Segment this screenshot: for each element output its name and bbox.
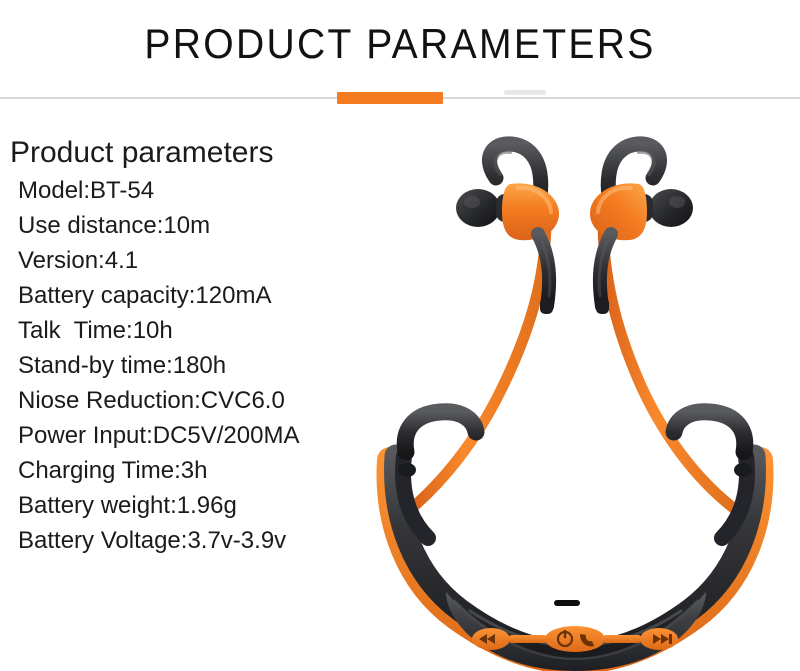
spec-row-standby-time: Stand-by time:180h <box>0 348 340 383</box>
product-image <box>350 130 800 671</box>
left-earbud <box>456 144 559 306</box>
spec-row-version: Version:4.1 <box>0 243 340 278</box>
button-strip-connector-right <box>602 635 642 643</box>
product-parameters-page: PRODUCT PARAMETERS Product parameters Mo… <box>0 0 800 671</box>
spec-row-battery-capacity: Battery capacity:120mA <box>0 278 340 313</box>
spec-row-battery-voltage: Battery Voltage:3.7v-3.9v <box>0 523 340 558</box>
spec-row-noise-reduction: Niose Reduction:CVC6.0 <box>0 383 340 418</box>
silicone-ear-tip-right <box>649 189 693 227</box>
silicone-ear-tip-left <box>456 189 500 227</box>
page-title: PRODUCT PARAMETERS <box>28 18 772 70</box>
control-module <box>446 592 706 671</box>
cable-retainer-left <box>398 463 416 477</box>
charging-port <box>554 600 580 606</box>
orange-cable-left <box>412 220 546 508</box>
right-earbud <box>590 144 693 306</box>
specifications-heading: Product parameters <box>0 133 340 173</box>
orange-cable-right <box>603 220 736 510</box>
spec-row-model: Model:BT-54 <box>0 173 340 208</box>
specifications-block: Product parameters Model:BT-54 Use dista… <box>0 133 340 558</box>
cable-retainer-right <box>734 463 752 477</box>
header-accent-bar <box>337 92 443 104</box>
button-strip-connector-left <box>508 635 548 643</box>
neckband <box>390 412 761 661</box>
spec-row-charging-time: Charging Time:3h <box>0 453 340 488</box>
spec-row-battery-weight: Battery weight:1.96g <box>0 488 340 523</box>
cable-joint <box>540 298 609 314</box>
divider-artifact <box>504 90 546 95</box>
spec-row-power-input: Power Input:DC5V/200MA <box>0 418 340 453</box>
spec-row-talk-time: Talk Time:10h <box>0 313 340 348</box>
power-call-button[interactable] <box>545 626 605 652</box>
spec-row-use-distance: Use distance:10m <box>0 208 340 243</box>
